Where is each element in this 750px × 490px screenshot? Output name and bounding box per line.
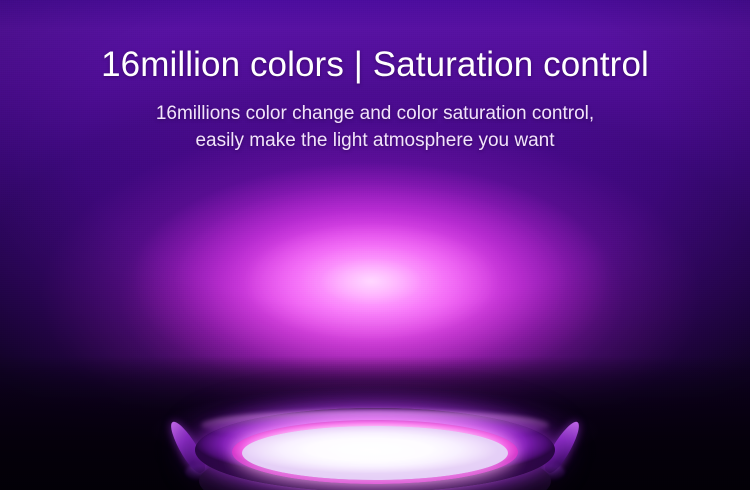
diffuser-bloom — [230, 422, 520, 482]
recessed-downlight-fixture — [189, 408, 561, 490]
subheadline-line-1: 16millions color change and color satura… — [75, 101, 675, 128]
product-banner: 16million colors | Saturation control 16… — [0, 0, 750, 490]
subheadline: 16millions color change and color satura… — [75, 101, 675, 155]
headline: 16million colors | Saturation control — [0, 44, 750, 85]
marketing-copy-block: 16million colors | Saturation control 16… — [0, 44, 750, 155]
subheadline-line-2: easily make the light atmosphere you wan… — [75, 128, 675, 155]
